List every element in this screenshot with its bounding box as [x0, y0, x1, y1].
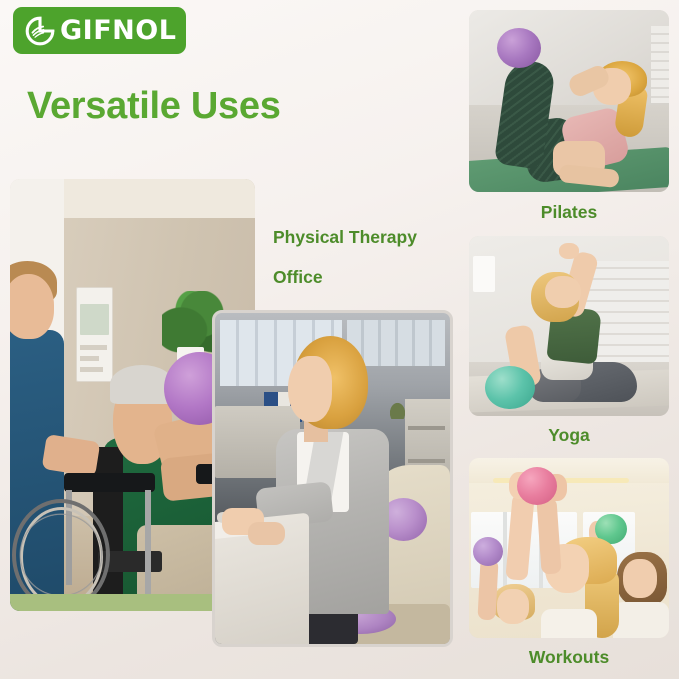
yoga-scene	[469, 236, 669, 416]
ball-purple	[497, 28, 541, 68]
photo-office	[212, 310, 453, 647]
office-scene	[215, 313, 450, 644]
caption-office: Office	[273, 267, 323, 288]
pilates-scene	[469, 10, 669, 192]
brand-logo-text: GIFNOL	[60, 17, 176, 44]
caption-pilates: Pilates	[466, 202, 672, 223]
ball-pink	[517, 467, 557, 505]
brand-logo-badge: GIFNOL	[13, 7, 186, 54]
workouts-scene	[469, 458, 669, 638]
marketing-banner: GIFNOL Versatile Uses	[0, 0, 679, 679]
photo-yoga	[469, 236, 669, 416]
page-title: Versatile Uses	[27, 86, 281, 128]
ball-purple	[473, 537, 503, 566]
photo-pilates	[469, 10, 669, 192]
caption-physical-therapy: Physical Therapy	[273, 227, 417, 248]
caption-workouts: Workouts	[466, 647, 672, 668]
caption-yoga: Yoga	[466, 425, 672, 446]
gifnol-wave-g-icon	[25, 16, 55, 46]
ball-mint	[485, 366, 535, 409]
photo-workouts	[469, 458, 669, 638]
